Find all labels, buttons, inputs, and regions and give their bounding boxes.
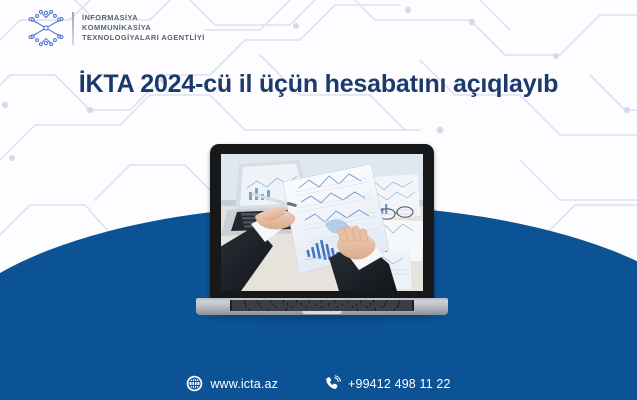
logo-divider	[72, 12, 74, 45]
laptop-lid	[210, 144, 434, 300]
poster-canvas: İNFORMASİYA KOMMUNİKASİYA TEXNOLOGİYALAR…	[0, 0, 637, 400]
brand-line-1: İNFORMASİYA	[82, 14, 205, 22]
brand-logo: İNFORMASİYA KOMMUNİKASİYA TEXNOLOGİYALAR…	[24, 6, 205, 50]
brand-line-3: TEXNOLOGİYALARI AGENTLİYİ	[82, 34, 205, 42]
website-label: www.icta.az	[210, 377, 278, 391]
phone-ringing-icon	[324, 375, 341, 392]
laptop-illustration	[196, 144, 448, 348]
brand-name: İNFORMASİYA KOMMUNİKASİYA TEXNOLOGİYALAR…	[82, 14, 205, 43]
phone-info[interactable]: +99412 498 11 22	[324, 375, 451, 392]
phone-label: +99412 498 11 22	[348, 377, 451, 391]
website-info[interactable]: www.icta.az	[186, 375, 278, 392]
page-title: İKTA 2024-cü il üçün hesabatını açıqlayı…	[0, 70, 637, 99]
laptop-screen	[221, 154, 423, 291]
globe-icon	[186, 375, 203, 392]
footer-contact-bar: www.icta.az +99412 498 11 22	[0, 375, 637, 392]
brand-line-2: KOMMUNİKASİYA	[82, 24, 205, 32]
laptop-keyboard	[230, 300, 414, 311]
snowflake-network-icon	[24, 6, 68, 50]
